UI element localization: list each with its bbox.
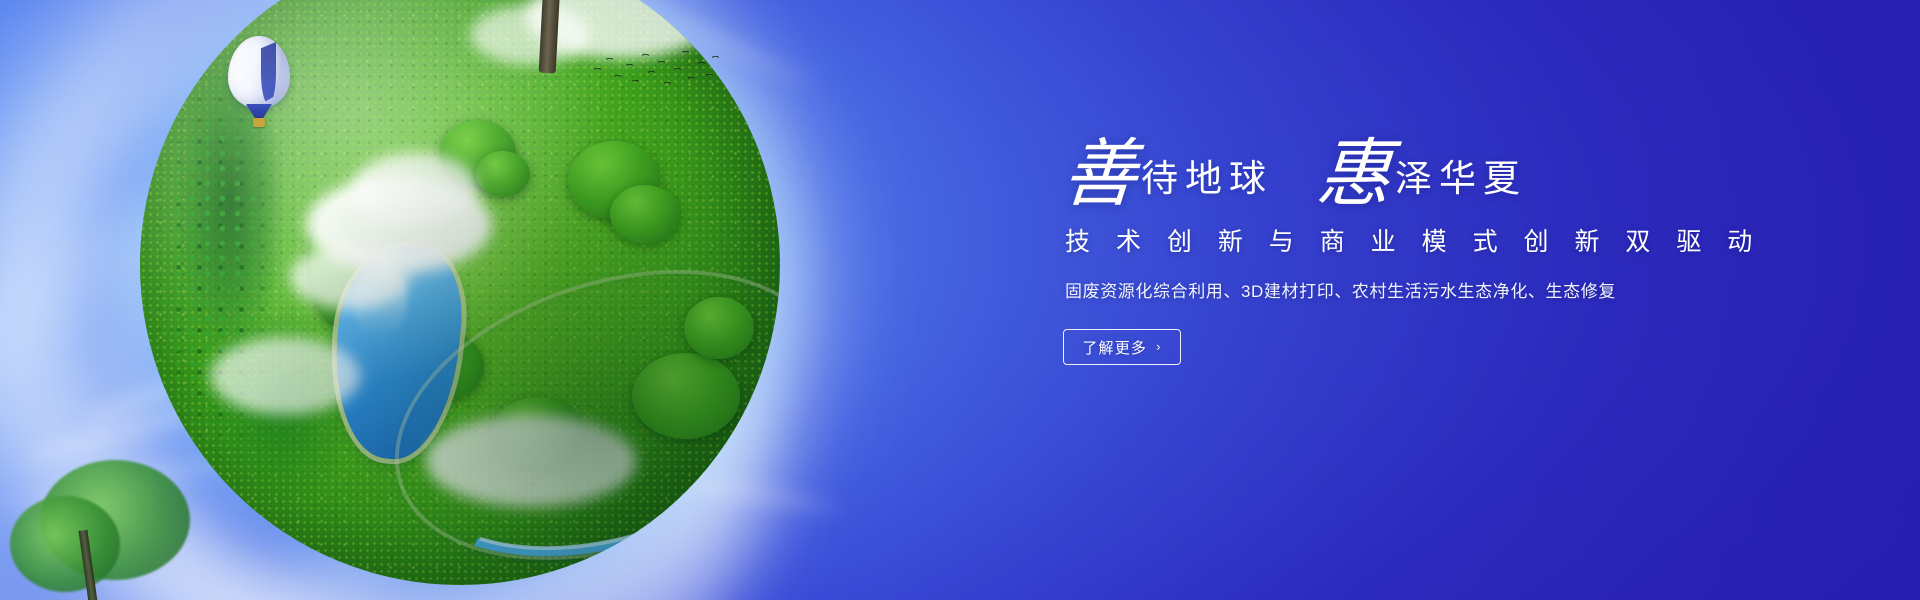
- learn-more-label: 了解更多: [1082, 337, 1147, 358]
- headline-lead-char: 惠: [1315, 140, 1394, 208]
- learn-more-button[interactable]: 了解更多 ›: [1063, 329, 1181, 365]
- hero-banner: 善 待地球 惠 泽华夏 技 术 创 新 与 商 业 模 式 创 新 双 驱 动 …: [0, 0, 1920, 600]
- headline-tail-chars: 泽华夏: [1391, 160, 1527, 208]
- balloon-envelope: [228, 36, 290, 108]
- tree-canopy: [10, 496, 120, 592]
- tree-trunk: [539, 0, 563, 73]
- page-subtitle: 技 术 创 新 与 商 业 模 式 创 新 双 驱 动: [1065, 222, 1623, 258]
- page-title: 善 待地球 惠 泽华夏: [1063, 140, 1623, 208]
- hero-text-block: 善 待地球 惠 泽华夏 技 术 创 新 与 商 业 模 式 创 新 双 驱 动 …: [1063, 140, 1623, 365]
- page-description: 固废资源化综合利用、3D建材打印、农村生活污水生态净化、生态修复: [1065, 277, 1623, 302]
- headline-group-2: 惠 泽华夏: [1317, 140, 1527, 208]
- balloon-basket: [253, 118, 265, 127]
- headline-lead-char: 善: [1061, 140, 1140, 208]
- balloon-skirt: [246, 104, 272, 118]
- bird-flock-icon: [592, 48, 720, 94]
- small-tree-icon: [10, 410, 200, 600]
- chevron-right-icon: ›: [1156, 340, 1162, 353]
- balloon-stripe: [261, 42, 276, 104]
- headline-group-1: 善 待地球: [1063, 140, 1273, 208]
- hot-air-balloon-icon: [228, 36, 290, 128]
- headline-tail-chars: 待地球: [1137, 160, 1273, 208]
